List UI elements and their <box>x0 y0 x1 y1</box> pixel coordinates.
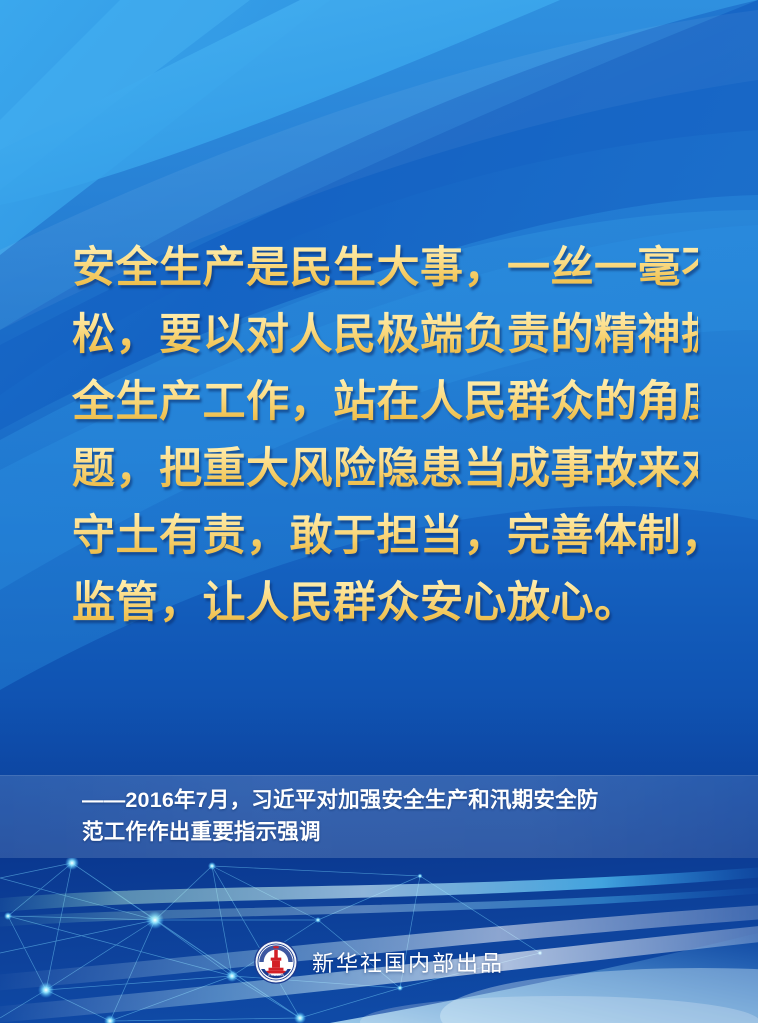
quote-block: 安全生产是民生大事，一丝一毫不能放 松，要以对人民极端负责的精神抓好安 全生产工… <box>72 235 698 637</box>
xinhua-emblem-icon: XINHUA <box>254 940 298 984</box>
quote-line: 监管，让人民群众安心放心。 <box>72 570 698 637</box>
quote-line: 安全生产是民生大事，一丝一毫不能放 <box>72 235 698 302</box>
svg-text:XINHUA: XINHUA <box>268 972 284 977</box>
poster-canvas: 安全生产是民生大事，一丝一毫不能放 松，要以对人民极端负责的精神抓好安 全生产工… <box>0 0 758 1023</box>
attribution-line: ——2016年7月，习近平对加强安全生产和汛期安全防 <box>82 784 742 816</box>
publisher-label: 新华社国内部出品 <box>312 946 504 978</box>
quote-line: 松，要以对人民极端负责的精神抓好安 <box>72 302 698 369</box>
quote-line: 守土有责，敢于担当，完善体制，严格 <box>72 503 698 570</box>
attribution-text: ——2016年7月，习近平对加强安全生产和汛期安全防 范工作作出重要指示强调 <box>82 784 742 848</box>
attribution-line: 范工作作出重要指示强调 <box>82 816 742 848</box>
quote-line: 题，把重大风险隐患当成事故来对待， <box>72 436 698 503</box>
quote-line: 全生产工作，站在人民群众的角度想问 <box>72 369 698 436</box>
publisher-row: XINHUA 新华社国内部出品 <box>0 940 758 984</box>
